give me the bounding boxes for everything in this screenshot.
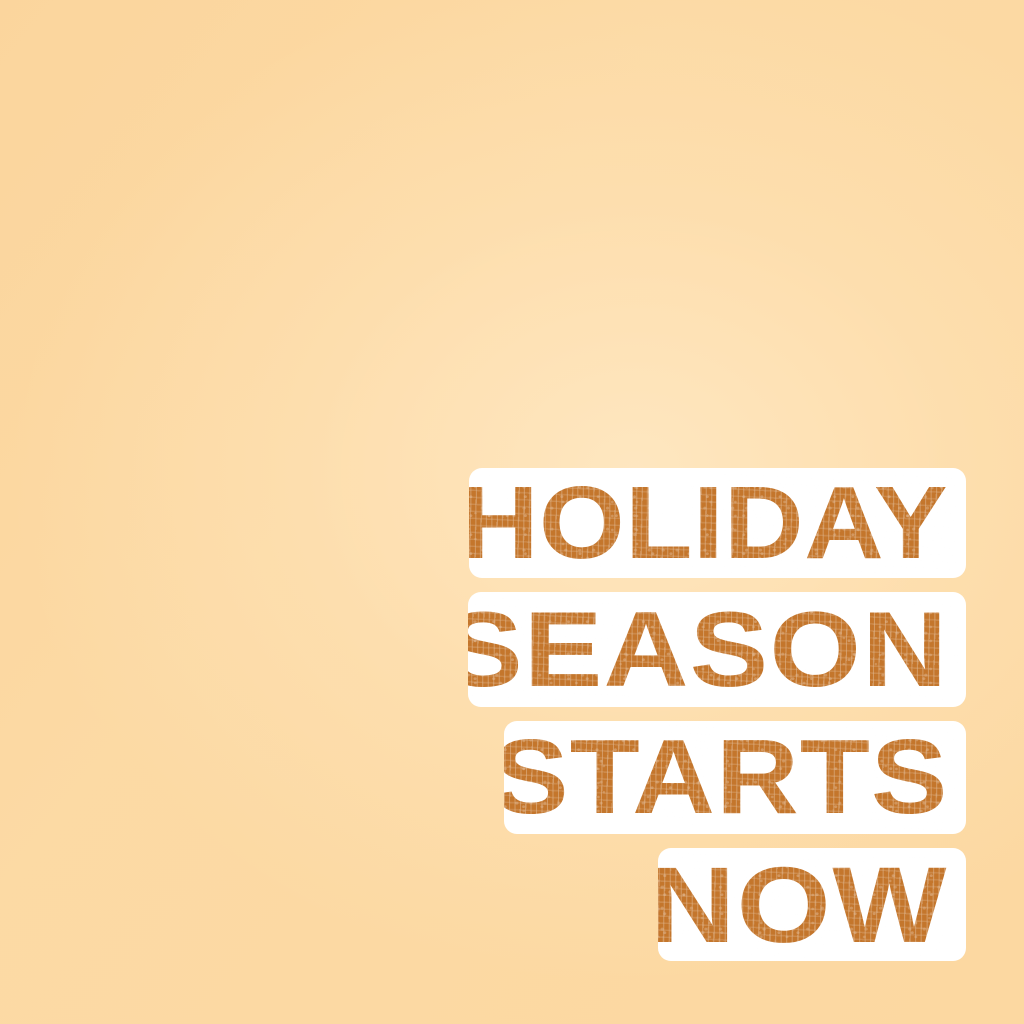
headline-line-2: SEASON <box>468 602 948 696</box>
headline-band-3: STARTS <box>504 721 967 834</box>
headline-line-3: STARTS <box>504 731 949 824</box>
headline-band-1: HOLIDAY <box>469 468 966 578</box>
headline-line-4: NOW <box>658 857 948 952</box>
poster-canvas: HOLIDAY SEASON STARTS NOW <box>0 0 1024 1024</box>
headline-stack: HOLIDAY SEASON STARTS NOW <box>0 468 1024 961</box>
headline-band-2: SEASON <box>468 592 966 707</box>
headline-line-1: HOLIDAY <box>469 478 948 569</box>
headline-band-4: NOW <box>658 848 966 961</box>
